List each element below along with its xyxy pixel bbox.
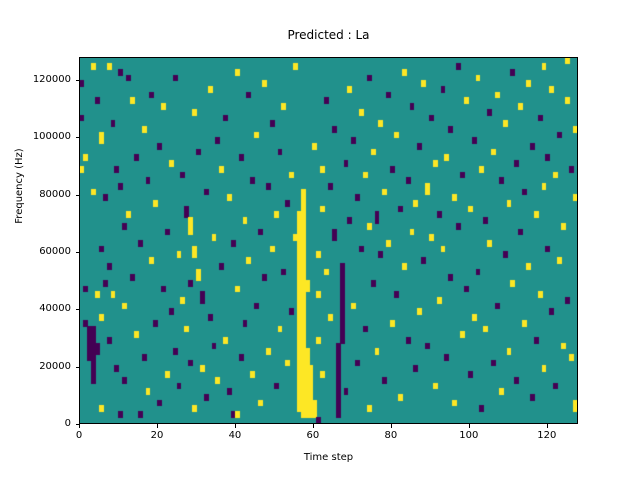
x-tick-mark	[157, 424, 158, 428]
y-tick-mark	[76, 195, 80, 196]
x-tick-mark	[235, 424, 236, 428]
x-axis-label: Time step	[79, 452, 578, 464]
x-tick-mark	[313, 424, 314, 428]
x-tick-mark	[547, 424, 548, 428]
y-tick-label: 40000	[0, 303, 71, 315]
y-tick-mark	[76, 252, 80, 253]
y-tick-mark	[76, 367, 80, 368]
y-tick-label: 120000	[0, 74, 71, 86]
page-title: Predicted : La	[79, 28, 578, 42]
x-tick-label: 40	[229, 430, 242, 442]
x-tick-label: 80	[385, 430, 398, 442]
x-tick-mark	[391, 424, 392, 428]
y-tick-mark	[76, 137, 80, 138]
y-tick-label: 20000	[0, 361, 71, 373]
y-tick-label: 100000	[0, 131, 71, 143]
heatmap-image	[80, 58, 577, 423]
x-tick-label: 100	[459, 430, 478, 442]
y-tick-mark	[76, 309, 80, 310]
x-tick-mark	[469, 424, 470, 428]
y-tick-label: 0	[0, 418, 71, 430]
y-tick-label: 80000	[0, 189, 71, 201]
heatmap-axes[interactable]	[79, 57, 578, 424]
figure-canvas: Predicted : La Time step Frequency (Hz) …	[0, 0, 640, 480]
x-tick-label: 20	[151, 430, 164, 442]
x-tick-label: 120	[537, 430, 556, 442]
x-tick-mark	[79, 424, 80, 428]
x-tick-label: 0	[76, 430, 82, 442]
y-tick-label: 60000	[0, 246, 71, 258]
y-tick-mark	[76, 80, 80, 81]
x-tick-label: 60	[307, 430, 320, 442]
y-tick-mark	[76, 424, 80, 425]
